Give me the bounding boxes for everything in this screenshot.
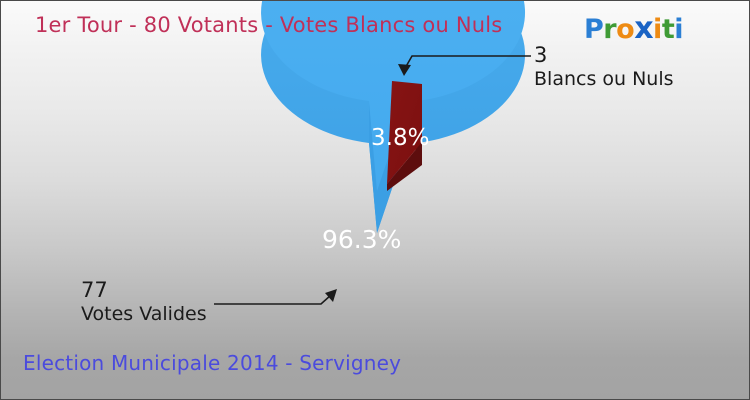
- chart-page: 1er Tour - 80 Votants - Votes Blancs ou …: [0, 0, 750, 400]
- callout-blancs-value: 3: [534, 43, 674, 67]
- page-title: 1er Tour - 80 Votants - Votes Blancs ou …: [35, 13, 502, 37]
- logo-letter-i1: i: [653, 14, 662, 45]
- logo-letter-x: x: [634, 11, 653, 46]
- callout-blancs-label: Blancs ou Nuls: [534, 67, 674, 91]
- proxiti-logo[interactable]: Proxiti: [584, 11, 683, 46]
- logo-letter-p: P: [584, 14, 603, 45]
- logo-letter-t: t: [662, 14, 674, 45]
- callout-votes-valides: 77 Votes Valides: [81, 278, 207, 326]
- callout-blancs-ou-nuls: 3 Blancs ou Nuls: [534, 43, 674, 91]
- callout-valides-label: Votes Valides: [81, 302, 207, 326]
- logo-letter-r: r: [603, 14, 616, 45]
- logo-letter-i2: i: [674, 14, 683, 45]
- logo-letter-o: o: [616, 14, 634, 45]
- callout-line-votes-valides: [214, 289, 337, 304]
- chart-footer: Election Municipale 2014 - Servigney: [23, 351, 401, 375]
- callout-valides-value: 77: [81, 278, 207, 302]
